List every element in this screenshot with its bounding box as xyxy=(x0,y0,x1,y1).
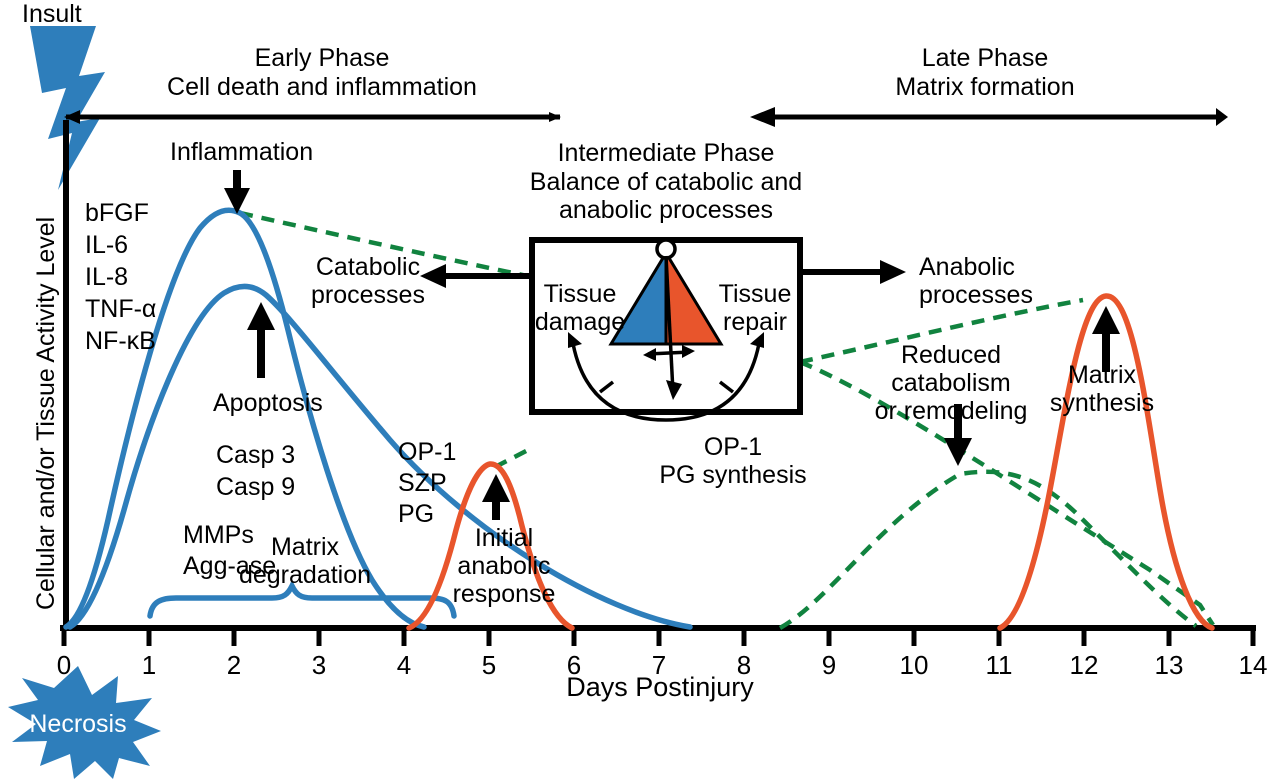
x-tick-label-12: 12 xyxy=(1070,650,1099,681)
tissue-damage-label-2: damage xyxy=(535,308,625,337)
initial-anabolic-label-3: response xyxy=(453,580,556,609)
tissue-repair-label-2: repair xyxy=(723,308,787,337)
mediator-bfgf: bFGF xyxy=(85,199,149,228)
initial-anabolic-label-2: anabolic xyxy=(457,552,550,581)
initial-anabolic-label-1: Initial xyxy=(475,524,533,553)
x-tick-label-2: 2 xyxy=(227,650,241,681)
anabolic-processes-label-2: processes xyxy=(919,281,1033,310)
catabolic-processes-label-2: processes xyxy=(311,281,425,310)
tissue-damage-label-1: Tissue xyxy=(544,280,617,309)
figure-canvas: Insult Necrosis Cellular and/or Tissue A… xyxy=(0,0,1280,779)
mediator-tnf-alpha: TNF-α xyxy=(85,295,156,324)
anabolic-trend-stub xyxy=(495,448,532,467)
x-tick-label-0: 0 xyxy=(57,650,71,681)
x-tick-label-4: 4 xyxy=(397,650,411,681)
x-tick-label-10: 10 xyxy=(900,650,929,681)
op1-marker-label: OP-1 xyxy=(398,438,456,467)
x-tick-label-13: 13 xyxy=(1155,650,1184,681)
x-tick-label-11: 11 xyxy=(986,650,1013,681)
matrix-synthesis-label-2: synthesis xyxy=(1050,389,1154,418)
necrosis-label: Necrosis xyxy=(29,710,126,739)
intermediate-phase-subtitle-1: Balance of catabolic and xyxy=(530,168,802,197)
reduced-catabolism-curve xyxy=(780,472,1196,628)
x-tick-label-9: 9 xyxy=(822,650,836,681)
x-tick-label-8: 8 xyxy=(737,650,751,681)
mediator-il8: IL-8 xyxy=(85,263,128,292)
apoptosis-callout-arrow xyxy=(247,302,275,378)
early-phase-subtitle: Cell death and inflammation xyxy=(167,73,477,102)
catabolic-processes-label-1: Catabolic xyxy=(316,253,420,282)
insult-label: Insult xyxy=(22,0,82,29)
pg-marker-label: PG xyxy=(398,500,434,529)
x-tick-label-1: 1 xyxy=(142,650,156,681)
op1-pg-label-2: PG synthesis xyxy=(659,461,806,490)
reduced-catabolism-label-3: or remodeling xyxy=(875,397,1028,426)
reduced-catabolism-label-2: catabolism xyxy=(891,369,1011,398)
y-axis-label: Cellular and/or Tissue Activity Level xyxy=(32,217,61,610)
caspase-3-label: Casp 3 xyxy=(216,441,295,470)
early-phase-arrow xyxy=(64,110,560,124)
matrix-degradation-brace xyxy=(150,586,454,616)
szp-marker-label: SZP xyxy=(398,469,447,498)
caspase-9-label: Casp 9 xyxy=(216,473,295,502)
tissue-repair-label-1: Tissue xyxy=(719,280,792,309)
inflammation-callout-arrow xyxy=(224,170,250,214)
inflammation-label: Inflammation xyxy=(170,138,313,167)
late-phase-subtitle: Matrix formation xyxy=(895,73,1074,102)
late-phase-arrow xyxy=(750,107,1228,127)
mmps-label: MMPs xyxy=(183,521,254,550)
reduced-catabolism-label-1: Reduced xyxy=(901,341,1001,370)
x-tick-label-3: 3 xyxy=(312,650,326,681)
mediator-nf-kappa-b: NF-κB xyxy=(85,327,156,356)
intermediate-phase-subtitle-2: anabolic processes xyxy=(559,196,773,225)
catabolic-arrow xyxy=(420,264,532,288)
x-tick-label-7: 7 xyxy=(652,650,666,681)
op1-pg-label-1: OP-1 xyxy=(704,433,762,462)
early-phase-title: Early Phase xyxy=(255,44,390,73)
x-tick-label-14: 14 xyxy=(1239,650,1268,681)
matrix-degradation-label-1: Matrix xyxy=(271,533,339,562)
x-tick-label-5: 5 xyxy=(482,650,496,681)
anabolic-processes-label-1: Anabolic xyxy=(919,253,1015,282)
late-phase-title: Late Phase xyxy=(922,44,1049,73)
matrix-degradation-label-2: degradation xyxy=(239,561,371,590)
x-tick-label-6: 6 xyxy=(567,650,581,681)
mediator-il6: IL-6 xyxy=(85,231,128,260)
apoptosis-label: Apoptosis xyxy=(213,389,323,418)
intermediate-phase-title: Intermediate Phase xyxy=(558,139,775,168)
anabolic-arrow xyxy=(800,260,906,284)
matrix-synthesis-label-1: Matrix xyxy=(1068,361,1136,390)
